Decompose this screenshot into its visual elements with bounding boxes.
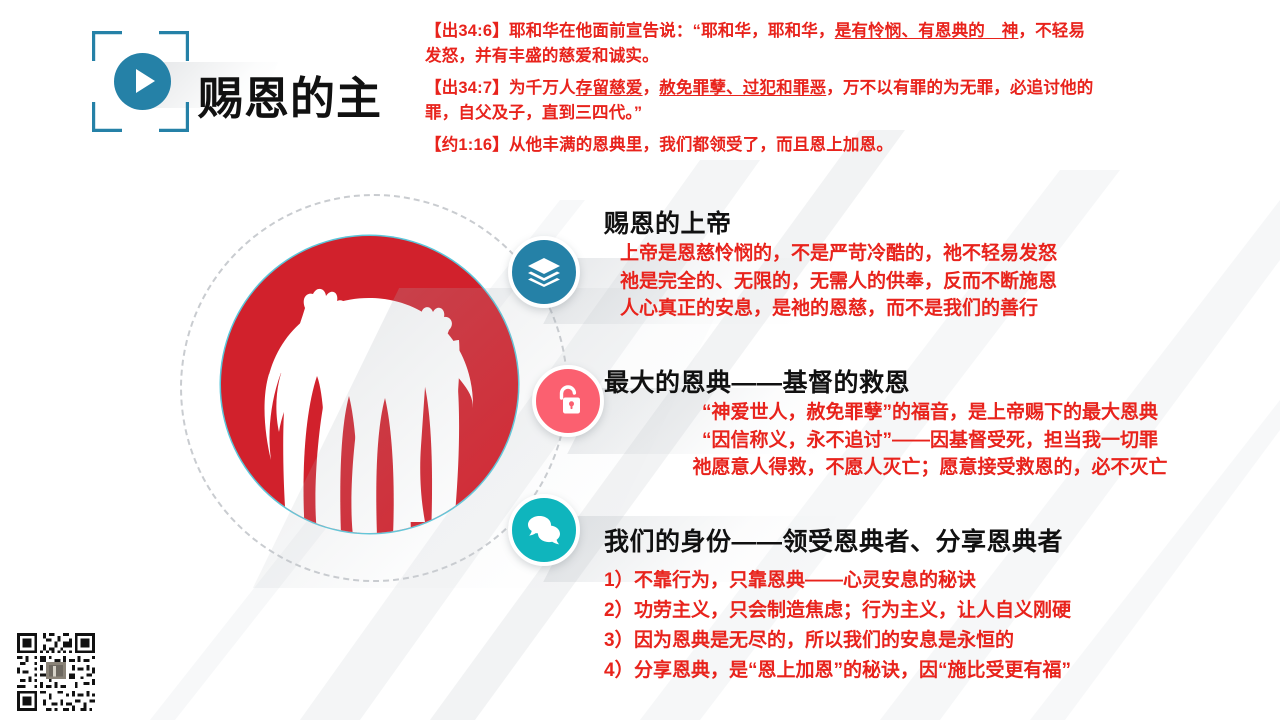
- list-item: 1）不靠行为，只靠恩典——心灵安息的秘诀: [604, 566, 1071, 596]
- list-number: 3）: [604, 626, 634, 656]
- section-god-of-grace: 赐恩的上帝 上帝是恩慈怜悯的，不是严苛冷酷的，祂不轻易发怒 祂是完全的、无限的，…: [604, 208, 1057, 323]
- verse-text-post: ，不轻易: [1018, 22, 1085, 40]
- verse-underline-b: 赦免罪孽、过犯和罪恶: [659, 79, 826, 97]
- verse-line2: 罪，自父及子，直到三四代。”: [425, 104, 642, 122]
- list-text: 功劳主义，只会制造焦虑；行为主义，让人自义刚硬: [634, 600, 1071, 621]
- scripture-block: 【出34:6】耶和华在他面前宣告说：“耶和华，耶和华，是有怜悯、有恩典的 神，不…: [425, 19, 1233, 165]
- chat-bubbles-icon: [527, 515, 561, 545]
- section-line: 祂是完全的、无限的，无需人的供奉，反而不断施恩: [604, 268, 1057, 296]
- section-heading: 赐恩的上帝: [604, 208, 1057, 240]
- verse-text-mid: ，: [643, 79, 660, 97]
- list-number: 1）: [604, 566, 634, 596]
- section-line: “神爱世人，赦免罪孽”的福音，是上帝赐下的最大恩典: [604, 399, 1240, 427]
- red-circle-background: [221, 236, 518, 533]
- list-text: 不靠行为，只靠恩典——心灵安息的秘诀: [634, 570, 976, 591]
- verse-underline-a: 存留慈爱: [576, 79, 643, 97]
- verse-line1: 从他丰满的恩典里，我们都领受了，而且恩上加恩。: [509, 136, 893, 154]
- section-line: 祂愿意人得救，不愿人灭亡；愿意接受救恩的，必不灭亡: [604, 454, 1240, 482]
- page-title: 赐恩的主: [198, 62, 382, 127]
- layers-icon: [527, 257, 561, 287]
- hands-and-cross-art: [221, 236, 518, 533]
- badge-unlock[interactable]: [532, 365, 604, 437]
- verse-quote: “耶和华，耶和华，: [693, 22, 835, 40]
- section-line: 人心真正的安息，是祂的恩慈，而不是我们的善行: [604, 295, 1057, 323]
- list-item: 2）功劳主义，只会制造焦虑；行为主义，让人自义刚硬: [604, 596, 1071, 626]
- verse-ref: 【出34:7】: [425, 79, 509, 97]
- verse-john-1-16: 【约1:16】从他丰满的恩典里，我们都领受了，而且恩上加恩。: [425, 133, 1233, 158]
- verse-ref: 【出34:6】: [425, 22, 509, 40]
- verse-ref: 【约1:16】: [425, 136, 509, 154]
- badge-layers[interactable]: [508, 236, 580, 308]
- badge-chat[interactable]: [508, 494, 580, 566]
- section-greatest-grace: 最大的恩典——基督的救恩 “神爱世人，赦免罪孽”的福音，是上帝赐下的最大恩典 “…: [604, 367, 1240, 482]
- verse-exodus-34-6: 【出34:6】耶和华在他面前宣告说：“耶和华，耶和华，是有怜悯、有恩典的 神，不…: [425, 19, 1233, 69]
- section-heading: 最大的恩典——基督的救恩: [604, 367, 1240, 399]
- section-our-identity: 我们的身份——领受恩典者、分享恩典者 1）不靠行为，只靠恩典——心灵安息的秘诀 …: [604, 526, 1071, 686]
- list-text: 因为恩典是无尽的，所以我们的安息是永恒的: [634, 630, 1014, 651]
- list-number: 2）: [604, 596, 634, 626]
- verse-line2: 发怒，并有丰盛的慈爱和诚实。: [425, 47, 659, 65]
- verse-text-post: ，万不以有罪的为无罪，必追讨他的: [826, 79, 1093, 97]
- list-item: 3）因为恩典是无尽的，所以我们的安息是永恒的: [604, 626, 1071, 656]
- section-line: “因信称义，永不追讨”——因基督受死，担当我一切罪: [604, 427, 1240, 455]
- section-line: 上帝是恩慈怜悯的，不是严苛冷酷的，祂不轻易发怒: [604, 240, 1057, 268]
- play-button-icon[interactable]: [114, 53, 171, 110]
- slide-root: 赐恩的主 【出34:6】耶和华在他面前宣告说：“耶和华，耶和华，是有怜悯、有恩典…: [0, 0, 1280, 720]
- list-number: 4）: [604, 656, 634, 686]
- verse-text-pre: 耶和华在他面前宣告说：: [509, 22, 693, 40]
- title-block: 赐恩的主: [88, 28, 418, 140]
- unlock-icon: [553, 384, 583, 418]
- qr-code[interactable]: [14, 630, 98, 714]
- list-text: 分享恩典，是“恩上加恩”的秘诀，因“施比受更有福”: [634, 660, 1071, 681]
- play-triangle-icon: [136, 69, 155, 93]
- verse-underline: 是有怜悯、有恩典的 神: [835, 22, 1019, 40]
- verse-exodus-34-7: 【出34:7】为千万人存留慈爱，赦免罪孽、过犯和罪恶，万不以有罪的为无罪，必追讨…: [425, 76, 1233, 126]
- list-item: 4）分享恩典，是“恩上加恩”的秘诀，因“施比受更有福”: [604, 656, 1071, 686]
- section-heading: 我们的身份——领受恩典者、分享恩典者: [604, 526, 1071, 558]
- verse-text-pre: 为千万人: [509, 79, 576, 97]
